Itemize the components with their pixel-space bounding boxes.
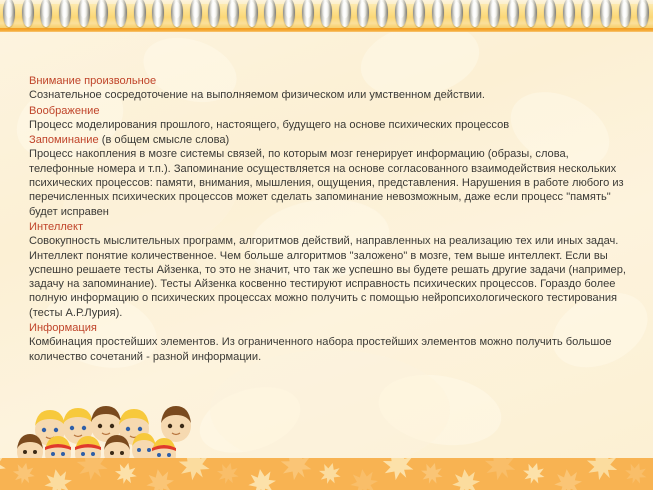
binding-ring [525,0,537,27]
band-leaf [172,458,216,486]
binding-rings [0,0,653,34]
child-back-5 [161,406,191,442]
block-body-4: Комбинация простейших элементов. Из огра… [29,335,629,364]
heading-text-1: Воображение [29,105,100,117]
bottom-band-leaves [0,458,653,490]
binding-ring [152,0,164,27]
binding-ring [302,0,314,27]
binding-ring [395,0,407,27]
binding-ring [563,0,575,27]
band-leaf [622,460,650,487]
binding-ring [432,0,444,27]
heading-text-0: Внимание произвольное [29,75,156,87]
band-leaf [11,460,37,486]
band-leaf [113,460,140,486]
binding-ring [283,0,295,27]
heading-text-3: Интеллект [29,221,83,233]
binding-ring [451,0,463,27]
binding-ring [600,0,612,27]
binding-ring [320,0,332,27]
block-body-1: Процесс моделирования прошлого, настояще… [29,118,629,132]
band-leaf [214,460,241,486]
binding-ring [115,0,127,27]
band-leaf [520,460,548,487]
band-leaf [418,460,445,487]
spiral-binding [0,0,653,34]
binding-ring [544,0,556,27]
band-leaf [42,467,75,490]
binding-ring [619,0,631,27]
heading-continuation-2: (в общем смысле слова) [99,134,230,146]
group-of-children-illustration [14,404,194,466]
block-body-2: Процесс накопления в мозге системы связе… [29,147,629,218]
binding-ring [264,0,276,27]
text-block-1: Воображение Процесс моделирования прошло… [29,104,629,133]
binding-ring [376,0,388,27]
block-heading-2: Запоминание (в общем смысле слова) [29,133,629,147]
band-leaf [274,458,318,486]
binding-ring [339,0,351,27]
binding-ring [227,0,239,27]
binding-ring [171,0,183,27]
band-leaf [581,458,624,486]
block-body-3: Совокупность мыслительных программ, алго… [29,234,629,320]
band-leaf [553,468,584,490]
band-leaf [0,458,12,486]
binding-ring [246,0,258,27]
binding-ring [3,0,15,27]
band-leaf [70,458,114,486]
binding-ring [469,0,481,27]
binding-ring [581,0,593,27]
block-heading-0: Внимание произвольное [29,74,629,88]
bottom-leaf-band [0,458,653,490]
binding-ring [357,0,369,27]
slide-text-content: Внимание произвольное Сознательное сосре… [29,74,629,365]
band-leaf [246,467,278,490]
text-block-4: Информация Комбинация простейших элемент… [29,321,629,364]
binding-ring [488,0,500,27]
heading-text-4: Информация [29,322,97,334]
binding-ring [637,0,649,27]
band-leaf [376,458,420,486]
band-leaf [451,467,482,490]
children-svg [14,404,194,466]
binding-ring [413,0,425,27]
band-leaf [348,467,379,490]
binding-ring [507,0,519,27]
text-block-0: Внимание произвольное Сознательное сосре… [29,74,629,103]
heading-text-2: Запоминание [29,134,99,146]
binding-ring [78,0,90,27]
block-heading-4: Информация [29,321,629,335]
binding-ring [134,0,146,27]
band-leaf [144,467,176,490]
band-leaf [316,460,343,487]
block-heading-3: Интеллект [29,220,629,234]
binding-ring [190,0,202,27]
text-block-2: Запоминание (в общем смысле слова) Проце… [29,133,629,219]
block-heading-1: Воображение [29,104,629,118]
binding-ring [59,0,71,27]
binding-ring [40,0,52,27]
binding-ring [22,0,34,27]
text-block-3: Интеллект Совокупность мыслительных прог… [29,220,629,320]
binding-ring [208,0,220,27]
slide-canvas: Внимание произвольное Сознательное сосре… [0,0,653,490]
binding-ring [96,0,108,27]
band-leaf [479,458,522,486]
block-body-0: Сознательное сосредоточение на выполняем… [29,88,629,102]
